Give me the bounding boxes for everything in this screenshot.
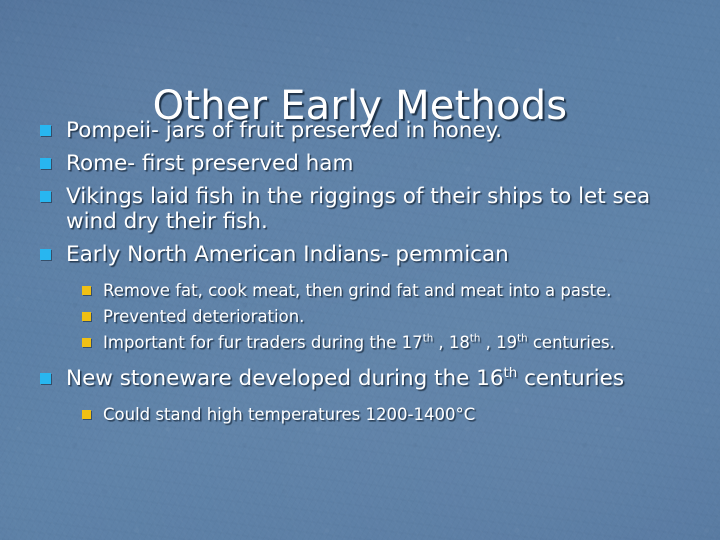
square-bullet-blue-icon — [40, 373, 51, 384]
square-bullet-blue-icon — [40, 158, 51, 169]
slide-body-bullet-list: Pompeii- jars of fruit preserved in hone… — [40, 118, 690, 431]
square-bullet-gold-icon — [82, 312, 91, 321]
bullet-text: Rome- first preserved ham — [66, 151, 690, 176]
bullet-item-level-2: Could stand high temperatures 1200-1400°… — [82, 405, 690, 424]
square-bullet-blue-icon — [40, 249, 51, 260]
bullet-text: Remove fat, cook meat, then grind fat an… — [103, 281, 690, 300]
bullet-text: New stoneware developed during the 16th … — [66, 366, 690, 391]
square-bullet-blue-icon — [40, 191, 51, 202]
bullet-text: Important for fur traders during the 17t… — [103, 333, 690, 352]
bullet-text: Could stand high temperatures 1200-1400°… — [103, 405, 690, 424]
bullet-item-level-2: Prevented deterioration. — [82, 307, 690, 326]
bullet-text: Early North American Indians- pemmican — [66, 242, 690, 267]
bullet-text: Pompeii- jars of fruit preserved in hone… — [66, 118, 690, 143]
bullet-item-level-2: Important for fur traders during the 17t… — [82, 333, 690, 352]
square-bullet-gold-icon — [82, 338, 91, 347]
bullet-text: Prevented deterioration. — [103, 307, 690, 326]
square-bullet-gold-icon — [82, 410, 91, 419]
bullet-item-level-1: Early North American Indians- pemmican — [40, 242, 690, 267]
bullet-item-level-1: Rome- first preserved ham — [40, 151, 690, 176]
bullet-item-level-1: Pompeii- jars of fruit preserved in hone… — [40, 118, 690, 143]
bullet-item-level-1: New stoneware developed during the 16th … — [40, 366, 690, 391]
bullet-item-level-1: Vikings laid fish in the riggings of the… — [40, 184, 690, 234]
slide-content-layer: Other Early Methods Pompeii- jars of fru… — [0, 0, 720, 540]
bullet-item-level-2: Remove fat, cook meat, then grind fat an… — [82, 281, 690, 300]
presentation-slide: Other Early Methods Pompeii- jars of fru… — [0, 0, 720, 540]
bullet-text: Vikings laid fish in the riggings of the… — [66, 184, 690, 234]
square-bullet-blue-icon — [40, 125, 51, 136]
square-bullet-gold-icon — [82, 286, 91, 295]
